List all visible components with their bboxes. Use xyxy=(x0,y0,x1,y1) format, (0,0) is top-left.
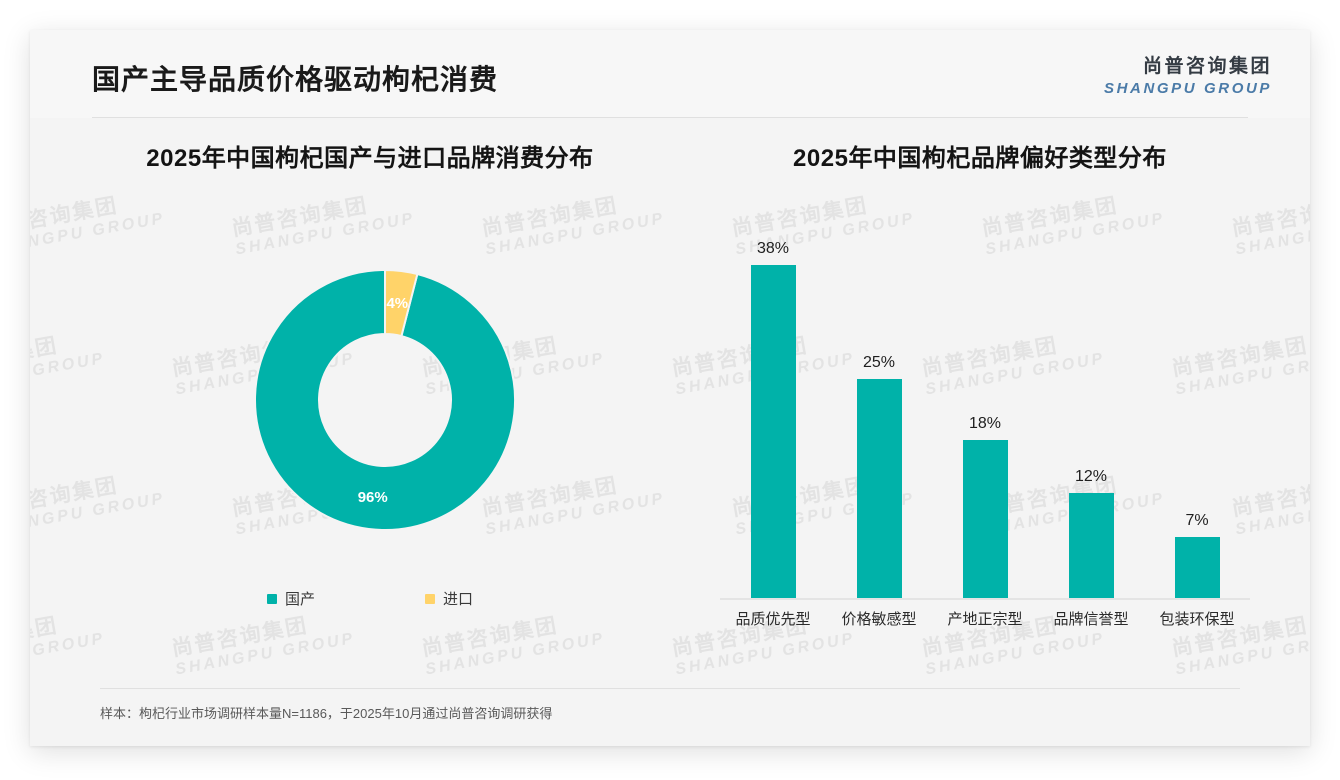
slide-card: 国产主导品质价格驱动枸杞消费 尚普咨询集团 SHANGPU GROUP 尚普咨询… xyxy=(30,30,1310,746)
bar-category-label: 产地正宗型 xyxy=(940,608,1030,629)
chart-panel-bar: 2025年中国枸杞品牌偏好类型分布 38%25%18%12%7% 品质优先型价格… xyxy=(690,118,1270,678)
sample-note: 样本：枸杞行业市场调研样本量N=1186，于2025年10月通过尚普咨询调研获得 xyxy=(100,688,1240,722)
bar-category-label: 包装环保型 xyxy=(1152,608,1242,629)
bar-rect[interactable] xyxy=(1069,493,1114,598)
bar-value-label: 38% xyxy=(757,240,789,258)
bar-value-label: 25% xyxy=(863,354,895,372)
donut-slice-label: 4% xyxy=(386,295,408,312)
legend-item-domestic[interactable]: 国产 xyxy=(267,588,315,609)
bar-column[interactable]: 18% xyxy=(940,198,1030,598)
legend-swatch-domestic xyxy=(267,594,277,604)
donut-chart: 96%4% xyxy=(245,260,525,540)
bar-value-label: 12% xyxy=(1075,468,1107,486)
legend-label-domestic: 国产 xyxy=(285,588,315,609)
donut-chart-title: 2025年中国枸杞国产与进口品牌消费分布 xyxy=(70,138,670,173)
donut-svg: 96%4% xyxy=(245,260,525,540)
bar-chart-title: 2025年中国枸杞品牌偏好类型分布 xyxy=(690,138,1270,173)
bar-column[interactable]: 38% xyxy=(728,198,818,598)
slide-body: 尚普咨询集团SHANGPU GROUP尚普咨询集团SHANGPU GROUP尚普… xyxy=(30,118,1310,746)
legend-label-imported: 进口 xyxy=(443,588,473,609)
bar-rect[interactable] xyxy=(1175,537,1220,598)
bar-category-label: 价格敏感型 xyxy=(834,608,924,629)
donut-legend: 国产 进口 xyxy=(70,588,670,609)
bar-category-labels: 品质优先型价格敏感型产地正宗型品牌信誉型包装环保型 xyxy=(720,608,1250,629)
slide-header: 国产主导品质价格驱动枸杞消费 尚普咨询集团 SHANGPU GROUP xyxy=(30,30,1310,118)
logo-chinese-text: 尚普咨询集团 xyxy=(1104,57,1272,76)
legend-item-imported[interactable]: 进口 xyxy=(425,588,473,609)
bar-axis-line xyxy=(720,598,1250,600)
bar-category-label: 品质优先型 xyxy=(728,608,818,629)
chart-panel-donut: 2025年中国枸杞国产与进口品牌消费分布 96%4% 国产 进口 xyxy=(70,118,670,678)
bar-rect[interactable] xyxy=(751,265,796,598)
bar-value-label: 7% xyxy=(1185,512,1208,530)
logo-english-text: SHANGPU GROUP xyxy=(1104,81,1272,96)
bar-column[interactable]: 12% xyxy=(1046,198,1136,598)
bar-rect[interactable] xyxy=(857,379,902,598)
bar-category-label: 品牌信誉型 xyxy=(1046,608,1136,629)
bar-rect[interactable] xyxy=(963,440,1008,598)
bar-value-label: 18% xyxy=(969,415,1001,433)
donut-slice-label: 96% xyxy=(358,489,388,506)
brand-logo: 尚普咨询集团 SHANGPU GROUP xyxy=(1104,57,1272,96)
bar-column[interactable]: 7% xyxy=(1152,198,1242,598)
legend-swatch-imported xyxy=(425,594,435,604)
bar-plot-area: 38%25%18%12%7% xyxy=(720,198,1250,598)
page-title: 国产主导品质价格驱动枸杞消费 xyxy=(92,58,498,98)
bar-chart: 38%25%18%12%7% 品质优先型价格敏感型产地正宗型品牌信誉型包装环保型 xyxy=(720,198,1250,658)
bar-column[interactable]: 25% xyxy=(834,198,924,598)
